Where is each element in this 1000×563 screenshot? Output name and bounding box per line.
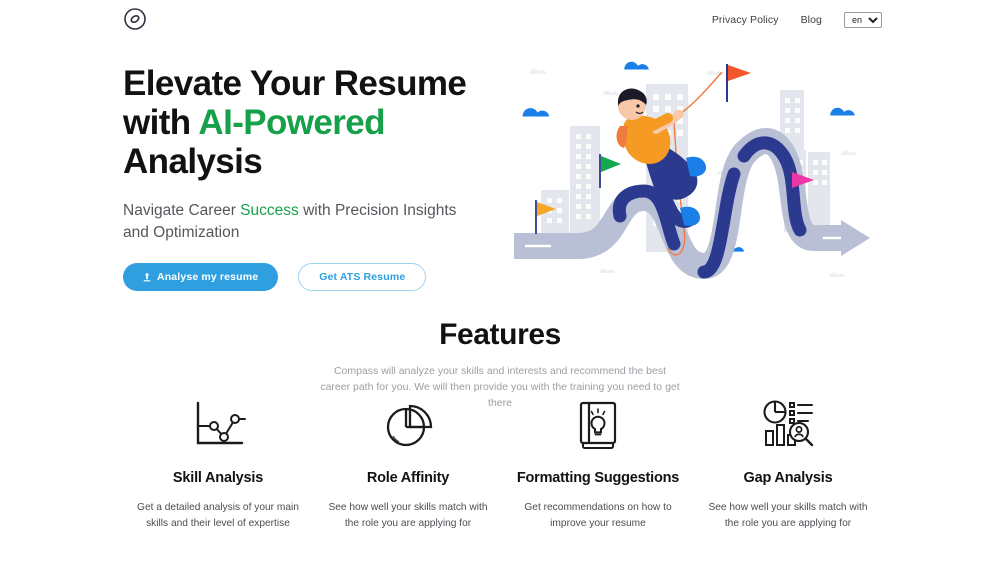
pie-chart-icon [313,396,503,454]
features-title: Features [0,318,1000,352]
feature-card-role-affinity: Role Affinity See how well your skills m… [313,396,503,532]
feature-desc-skill-analysis: Get a detailed analysis of your main ski… [123,500,313,532]
analytics-search-icon [693,396,883,454]
feature-card-skill-analysis: Skill Analysis Get a detailed analysis o… [123,396,313,532]
hero-section: Elevate Your Resume with AI-Powered Anal… [0,56,1000,286]
book-lightbulb-icon [503,396,693,454]
career-path-illustration [508,48,888,288]
feature-title-role-affinity: Role Affinity [313,470,503,486]
ats-button-label: Get ATS Resume [319,271,405,283]
feature-desc-role-affinity: See how well your skills match with the … [313,500,503,532]
language-select[interactable]: en [844,12,882,28]
subtitle-prefix: Navigate Career [123,202,240,219]
feature-desc-gap-analysis: See how well your skills match with the … [693,500,883,532]
feature-desc-formatting-suggestions: Get recommendations on how to improve yo… [503,500,693,532]
headline-line-1: Elevate Your Resume [123,64,466,103]
page-title: Elevate Your Resume with AI-Powered Anal… [123,64,503,182]
compass-icon [123,7,147,31]
upload-icon [143,272,151,282]
line-chart-icon [123,396,313,454]
illustration-svg [508,48,888,288]
subtitle-accent: Success [240,202,299,219]
get-ats-resume-button[interactable]: Get ATS Resume [298,263,426,291]
headline-accent: AI-Powered [198,103,385,142]
hero-copy: Elevate Your Resume with AI-Powered Anal… [123,64,503,291]
analyse-button-label: Analyse my resume [157,271,258,283]
hero-subtitle: Navigate Career Success with Precision I… [123,200,463,244]
feature-card-gap-analysis: Gap Analysis See how well your skills ma… [693,396,883,532]
headline-line-3: Analysis [123,142,262,181]
nav-link-privacy-policy[interactable]: Privacy Policy [712,14,779,26]
feature-title-skill-analysis: Skill Analysis [123,470,313,486]
feature-card-formatting-suggestions: Formatting Suggestions Get recommendatio… [503,396,693,532]
headline-line-2-prefix: with [123,103,198,142]
nav-link-blog[interactable]: Blog [801,14,822,26]
features-card-grid: Skill Analysis Get a detailed analysis o… [123,396,883,532]
site-header: Privacy Policy Blog en [0,0,1000,40]
landing-page: Privacy Policy Blog en Elevate Your Resu… [0,0,1000,563]
hero-cta-row: Analyse my resume Get ATS Resume [123,263,503,291]
feature-title-gap-analysis: Gap Analysis [693,470,883,486]
features-section: Features Compass will analyze your skill… [0,318,1000,412]
compass-logo[interactable] [123,7,147,31]
analyse-my-resume-button[interactable]: Analyse my resume [123,263,278,291]
feature-title-formatting-suggestions: Formatting Suggestions [503,470,693,486]
header-nav: Privacy Policy Blog en [712,12,882,28]
